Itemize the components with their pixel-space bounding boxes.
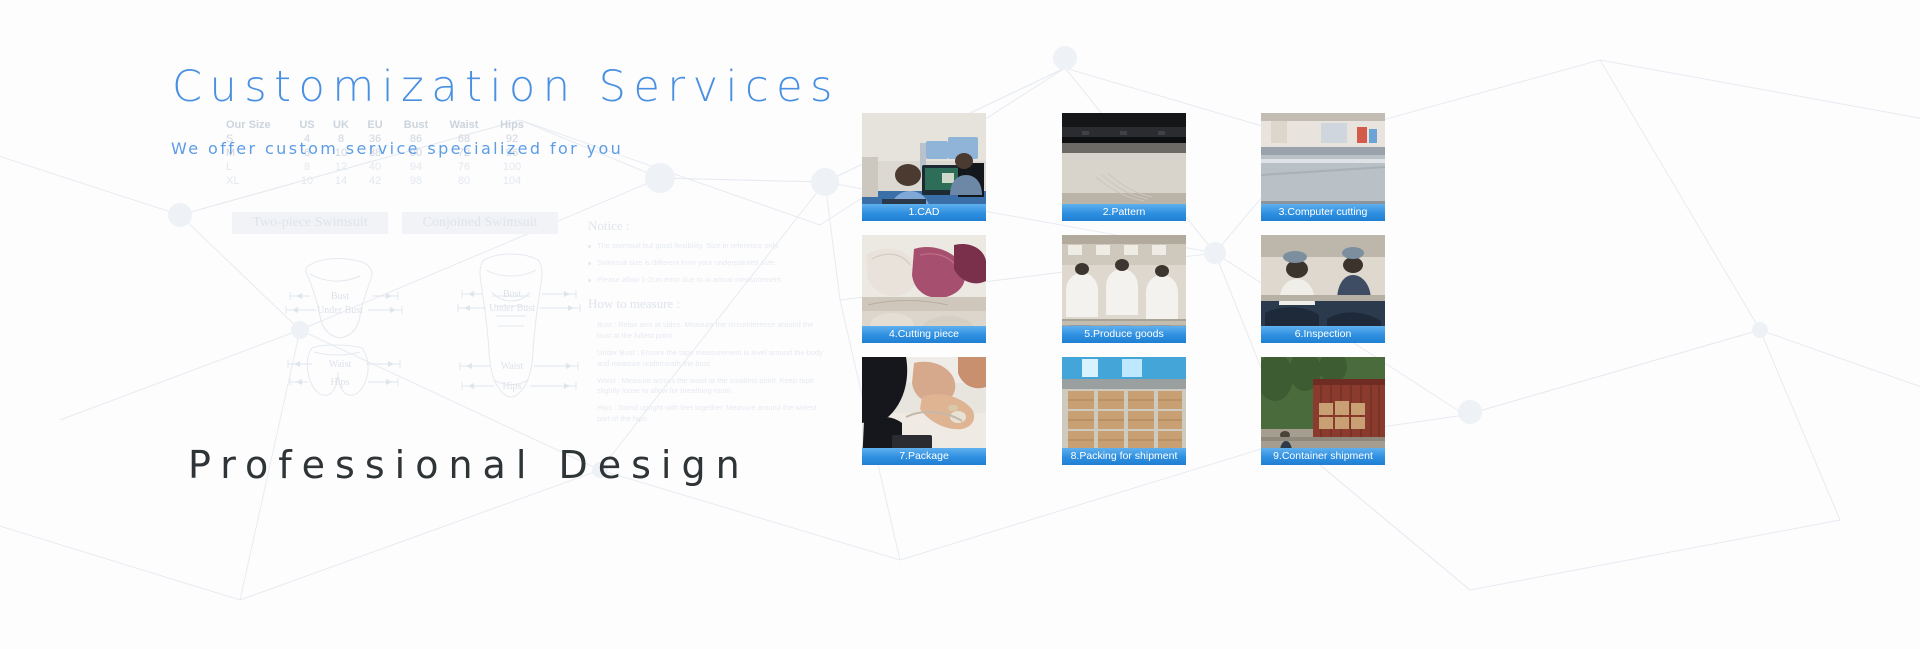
notice-item: Swimsuit size is different from your und… xyxy=(588,258,820,269)
process-step-5[interactable]: 5.Produce goods xyxy=(1062,235,1186,343)
process-step-7[interactable]: 7.Package xyxy=(862,357,986,465)
process-step-caption: 5.Produce goods xyxy=(1062,326,1186,343)
size-chart-header-row: Our Size US UK EU Bust Waist Hips xyxy=(222,118,536,132)
table-row: L 8 12 40 94 76 100 xyxy=(222,160,536,174)
professional-design-heading: Professional Design xyxy=(188,443,750,487)
size-cell: 100 xyxy=(488,160,536,174)
size-cell: 8 xyxy=(290,160,324,174)
two-piece-swimsuit-diagram: Bust Under Bust Waist Hips xyxy=(250,252,430,412)
process-step-6[interactable]: 6.Inspection xyxy=(1261,235,1385,343)
size-cell: L xyxy=(222,160,290,174)
size-cell: 76 xyxy=(440,160,488,174)
measure-item: Under Bust : Ensure the tape measurement… xyxy=(588,348,824,370)
notice-item: The swimsuit but good flexibility. Size … xyxy=(588,241,820,252)
process-step-caption: 9.Container shipment xyxy=(1261,448,1385,465)
measure-label-under-bust: Under Bust xyxy=(317,305,363,316)
process-step-9[interactable]: 9.Container shipment xyxy=(1261,357,1385,465)
measure-item: Waist : Measure across the waist at the … xyxy=(588,376,824,398)
measure-label-waist: Waist xyxy=(329,359,352,370)
tab-conjoined-swimsuit[interactable]: Conjoined Swimsuit xyxy=(402,212,558,234)
size-chart-header-cell: Hips xyxy=(488,118,536,132)
measure-label-under-bust: Under Bust xyxy=(489,303,535,314)
size-chart-header-cell: US xyxy=(290,118,324,132)
size-chart-header-cell: Waist xyxy=(440,118,488,132)
process-step-caption: 4.Cutting piece xyxy=(862,326,986,343)
process-step-caption: 3.Computer cutting xyxy=(1261,204,1385,221)
process-step-4[interactable]: 4.Cutting piece xyxy=(862,235,986,343)
process-step-caption: 2.Pattern xyxy=(1062,204,1186,221)
table-row: XL 10 14 42 98 80 104 xyxy=(222,174,536,188)
size-cell: 98 xyxy=(392,174,440,188)
measure-item: Bust : Relax arm at sides. Measure the c… xyxy=(588,320,824,342)
size-cell: XL xyxy=(222,174,290,188)
size-chart-header-cell: Bust xyxy=(392,118,440,132)
size-cell: 104 xyxy=(488,174,536,188)
measure-label-bust: Bust xyxy=(503,289,522,300)
page-subtitle: We offer custom service specialized for … xyxy=(171,139,623,158)
notice-section: Notice : The swimsuit but good flexibili… xyxy=(588,218,820,292)
measure-label-hips: Hips xyxy=(503,381,522,392)
size-cell: 10 xyxy=(290,174,324,188)
process-step-caption: 7.Package xyxy=(862,448,986,465)
measure-label-waist: Waist xyxy=(501,361,524,372)
how-to-measure-title: How to measure : xyxy=(588,296,824,312)
process-step-caption: 1.CAD xyxy=(862,204,986,221)
process-step-2[interactable]: 2.Pattern xyxy=(1062,113,1186,221)
measure-label-bust: Bust xyxy=(331,291,350,302)
size-cell: 42 xyxy=(358,174,392,188)
size-chart-header-cell: EU xyxy=(358,118,392,132)
process-step-1[interactable]: 1.CAD xyxy=(862,113,986,221)
how-to-measure-section: How to measure : Bust : Relax arm at sid… xyxy=(588,296,824,431)
process-step-3[interactable]: 3.Computer cutting xyxy=(1261,113,1385,221)
process-step-caption: 6.Inspection xyxy=(1261,326,1385,343)
size-cell: 80 xyxy=(440,174,488,188)
notice-title: Notice : xyxy=(588,218,820,234)
size-cell: 40 xyxy=(358,160,392,174)
size-chart-header-cell: UK xyxy=(324,118,358,132)
measure-item: Hips : Stand upright with feet together.… xyxy=(588,403,824,425)
page-title: Customization Services xyxy=(172,62,840,112)
customization-services-banner: Our Size US UK EU Bust Waist Hips S 4 8 … xyxy=(0,0,1920,649)
process-photo-grid: 1.CAD xyxy=(862,113,1387,468)
conjoined-swimsuit-diagram: Bust Under Bust Waist Hips xyxy=(420,248,610,416)
notice-item: Please allow 1-2cm error due to in actua… xyxy=(588,275,820,286)
measure-label-hips: Hips xyxy=(331,377,350,388)
process-step-8[interactable]: 8.Packing for shipment xyxy=(1062,357,1186,465)
size-cell: 14 xyxy=(324,174,358,188)
tab-two-piece-swimsuit[interactable]: Two-piece Swimsuit xyxy=(232,212,388,234)
process-step-caption: 8.Packing for shipment xyxy=(1062,448,1186,465)
size-cell: 94 xyxy=(392,160,440,174)
size-chart-header-cell: Our Size xyxy=(222,118,290,132)
size-cell: 12 xyxy=(324,160,358,174)
